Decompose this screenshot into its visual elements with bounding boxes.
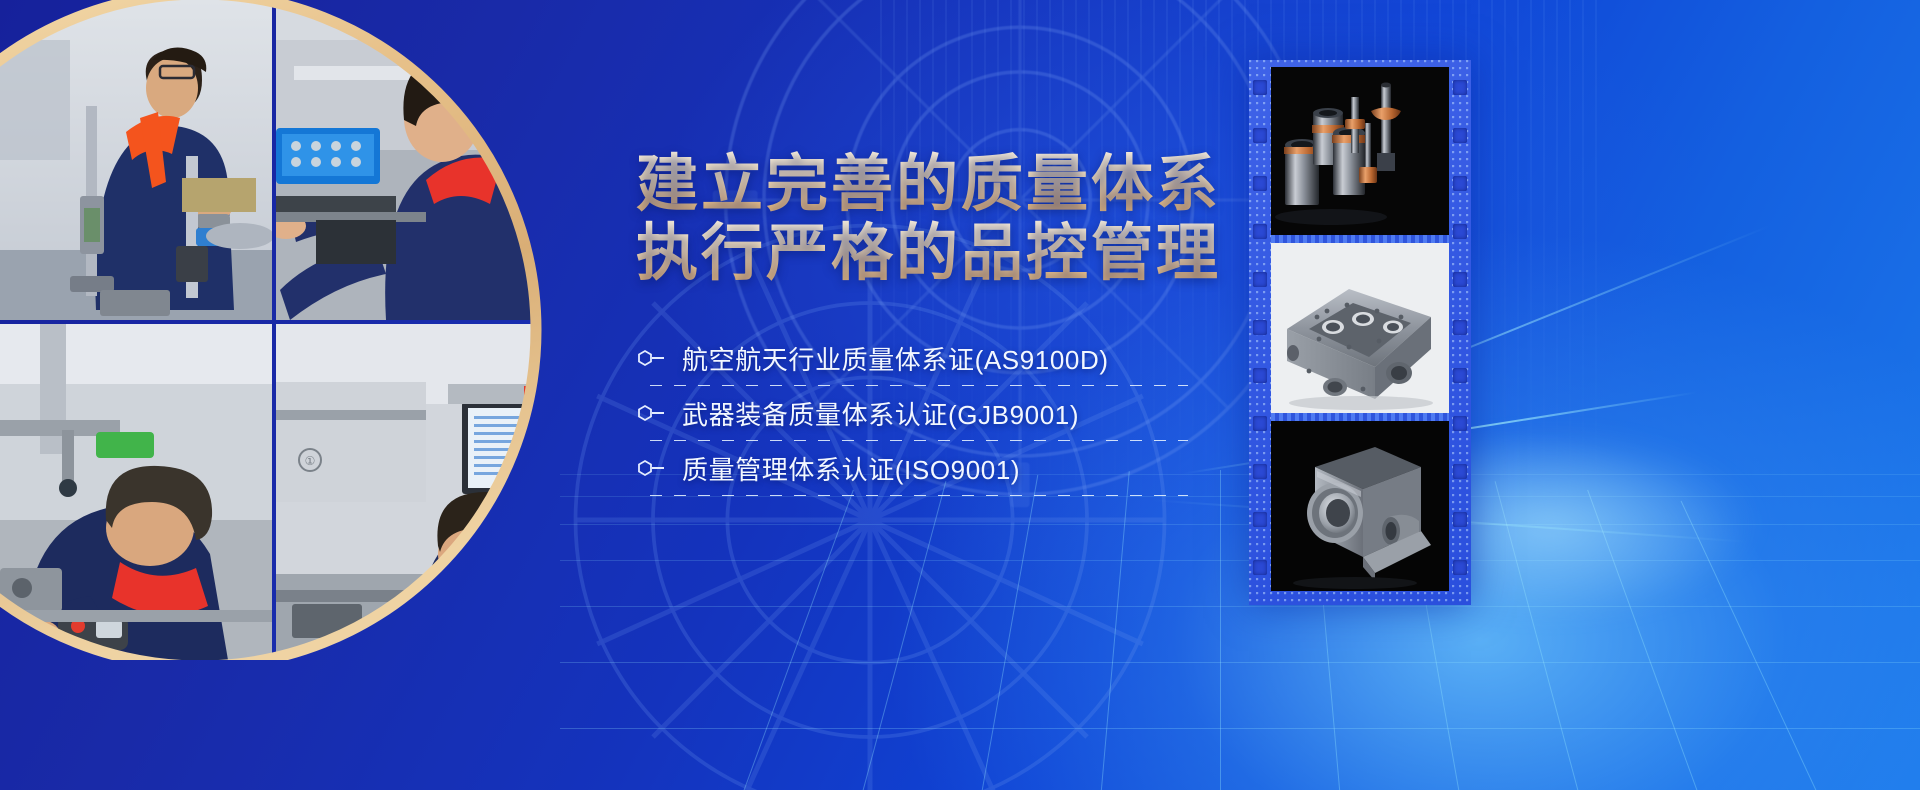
photo-inspector-height-gauge [0,0,272,320]
certification-item: 航空航天行业质量体系证(AS9100D) [636,331,1188,386]
certification-label: 武器装备质量体系认证(GJB9001) [682,395,1079,432]
film-perforation [1253,560,1267,575]
quality-system-banner: ① [0,0,1920,790]
film-perforation [1253,176,1267,191]
photo-precision-turned-parts [1271,67,1449,235]
film-perforation [1253,224,1267,239]
film-perforation [1453,272,1467,287]
inspection-photo-collage: ① [0,0,560,660]
film-perforation [1253,272,1267,287]
film-divider-band [1271,235,1449,243]
film-perforation [1453,80,1467,95]
photo-inspector-cmm-machine [0,324,272,660]
hexagon-node-icon [636,348,668,368]
headline-line-1: 建立完善的质量体系 [636,150,1256,219]
certification-label: 航空航天行业质量体系证(AS9100D) [682,340,1109,377]
certification-label: 质量管理体系认证(ISO9001) [682,450,1020,487]
film-perforation [1453,560,1467,575]
film-perforation [1453,512,1467,527]
certification-list: 航空航天行业质量体系证(AS9100D) 武器装备质量体系认证(GJB9001) [636,331,1188,496]
photo-inspector-female-bench [276,0,560,320]
film-perforation [1253,320,1267,335]
hexagon-node-icon [636,458,668,478]
film-perforation [1253,416,1267,431]
film-perforation [1453,176,1467,191]
product-filmstrip [1249,60,1471,605]
film-perforation [1253,128,1267,143]
film-perforation [1453,416,1467,431]
film-divider-band [1271,413,1449,421]
headline-line-2: 执行严格的品控管理 [636,219,1256,288]
headline-block: 建立完善的质量体系 执行严格的品控管理 航空航天行业质量体系证(AS9100D) [636,150,1256,496]
svg-text:①: ① [305,454,316,468]
film-perforation [1253,80,1267,95]
film-perforation [1253,464,1267,479]
film-perforation [1453,224,1467,239]
photo-bearing-block-assembly [1271,421,1449,591]
film-perforation [1453,320,1467,335]
certification-item: 武器装备质量体系认证(GJB9001) [636,386,1188,441]
film-perforation [1453,128,1467,143]
film-perforation [1453,464,1467,479]
film-perforation [1453,368,1467,383]
hexagon-node-icon [636,403,668,423]
photo-machined-aluminum-housing [1271,243,1449,413]
certification-item: 质量管理体系认证(ISO9001) [636,441,1188,496]
film-perforation [1253,512,1267,527]
film-perforation [1253,368,1267,383]
photo-inspector-cnc-station: ① [276,324,560,660]
dashed-separator [650,495,1188,496]
